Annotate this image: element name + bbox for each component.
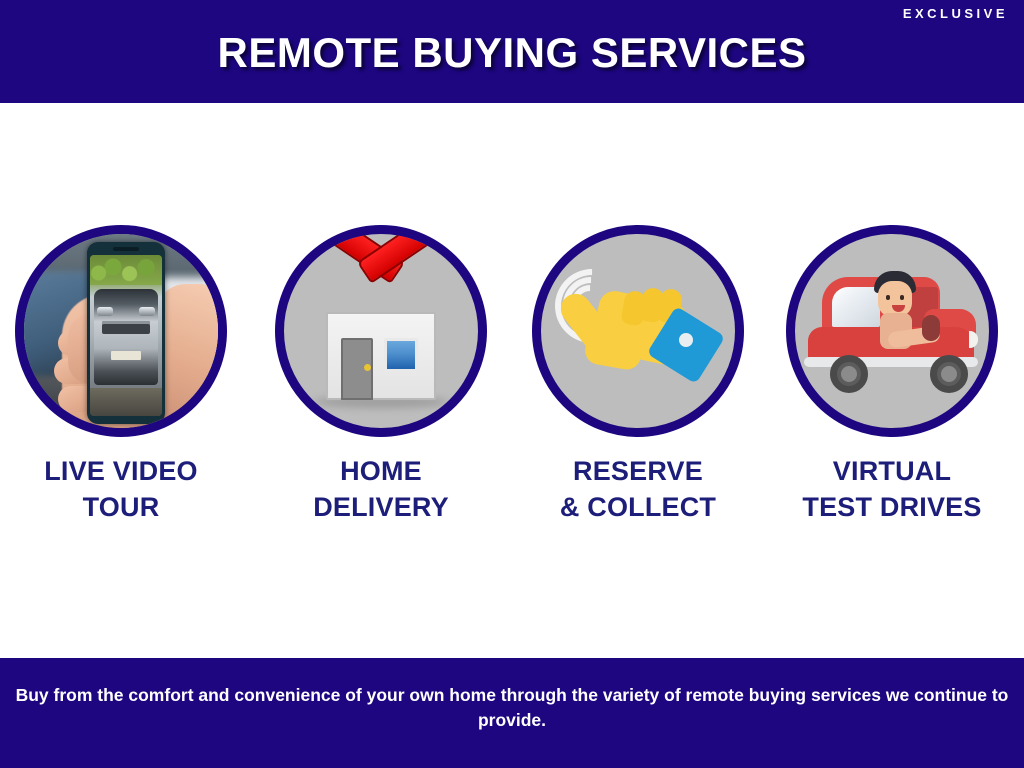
screen-road [90,388,162,416]
service-label-live-video-tour: LIVE VIDEO TOUR [15,454,227,525]
driver-face [878,281,912,317]
service-label-line2: DELIVERY [275,490,487,526]
car-hub-front [941,366,957,382]
tap-hand-icon [553,261,723,401]
car-hub-back [841,366,857,382]
footer-caption: Buy from the comfort and convenience of … [7,683,1017,734]
service-label-line2: TOUR [15,490,227,526]
service-label-reserve-and-collect: RESERVE & COLLECT [532,454,744,525]
screen-trees [90,255,162,285]
service-label-line2: TEST DRIVES [786,490,998,526]
phone-notch [113,247,139,251]
service-card-home-delivery[interactable]: HOME DELIVERY [275,225,487,525]
house-window [384,338,418,372]
icon-circle-home-delivery [275,225,487,437]
screen-headlamp-left [97,307,113,316]
service-label-line1: HOME [275,454,487,490]
driver-eye-left [886,295,890,300]
screen-licence-plate [111,351,141,360]
smartphone-icon [87,242,165,424]
icon-circle-reserve-and-collect [532,225,744,437]
service-cards: LIVE VIDEO TOUR HOME DELIVERY [0,225,1024,535]
house-roof-right [357,225,454,284]
icon-circle-live-video-tour [15,225,227,437]
service-card-virtual-test-drives[interactable]: VIRTUAL TEST DRIVES [786,225,998,525]
car-with-driver-icon [804,269,980,393]
service-label-line1: RESERVE [532,454,744,490]
screen-grille [102,321,150,334]
service-card-reserve-and-collect[interactable]: RESERVE & COLLECT [532,225,744,525]
header-bar: EXCLUSIVE REMOTE BUYING SERVICES [0,0,1024,103]
car-headlamp [969,331,978,348]
service-label-line1: VIRTUAL [786,454,998,490]
service-card-live-video-tour[interactable]: LIVE VIDEO TOUR [15,225,227,525]
icon-circle-virtual-test-drives [786,225,998,437]
car-rear-window [832,287,880,327]
tap-cuff-button [679,333,693,347]
service-label-virtual-test-drives: VIRTUAL TEST DRIVES [786,454,998,525]
palm-shape [156,284,224,434]
footer-bar: Buy from the comfort and convenience of … [0,658,1024,768]
phone-in-hand-photo-icon [24,234,218,428]
service-label-home-delivery: HOME DELIVERY [275,454,487,525]
screen-headlamp-right [139,307,155,316]
driver-eye-right [900,295,904,300]
house-door-knob [364,364,371,371]
page-title: REMOTE BUYING SERVICES [0,29,1024,77]
steering-wheel [922,315,940,341]
screen-suv [94,289,158,385]
service-label-line1: LIVE VIDEO [15,454,227,490]
house-icon [301,256,461,406]
service-label-line2: & COLLECT [532,490,744,526]
brand-tag: EXCLUSIVE [903,7,1008,20]
phone-screen [90,255,162,416]
